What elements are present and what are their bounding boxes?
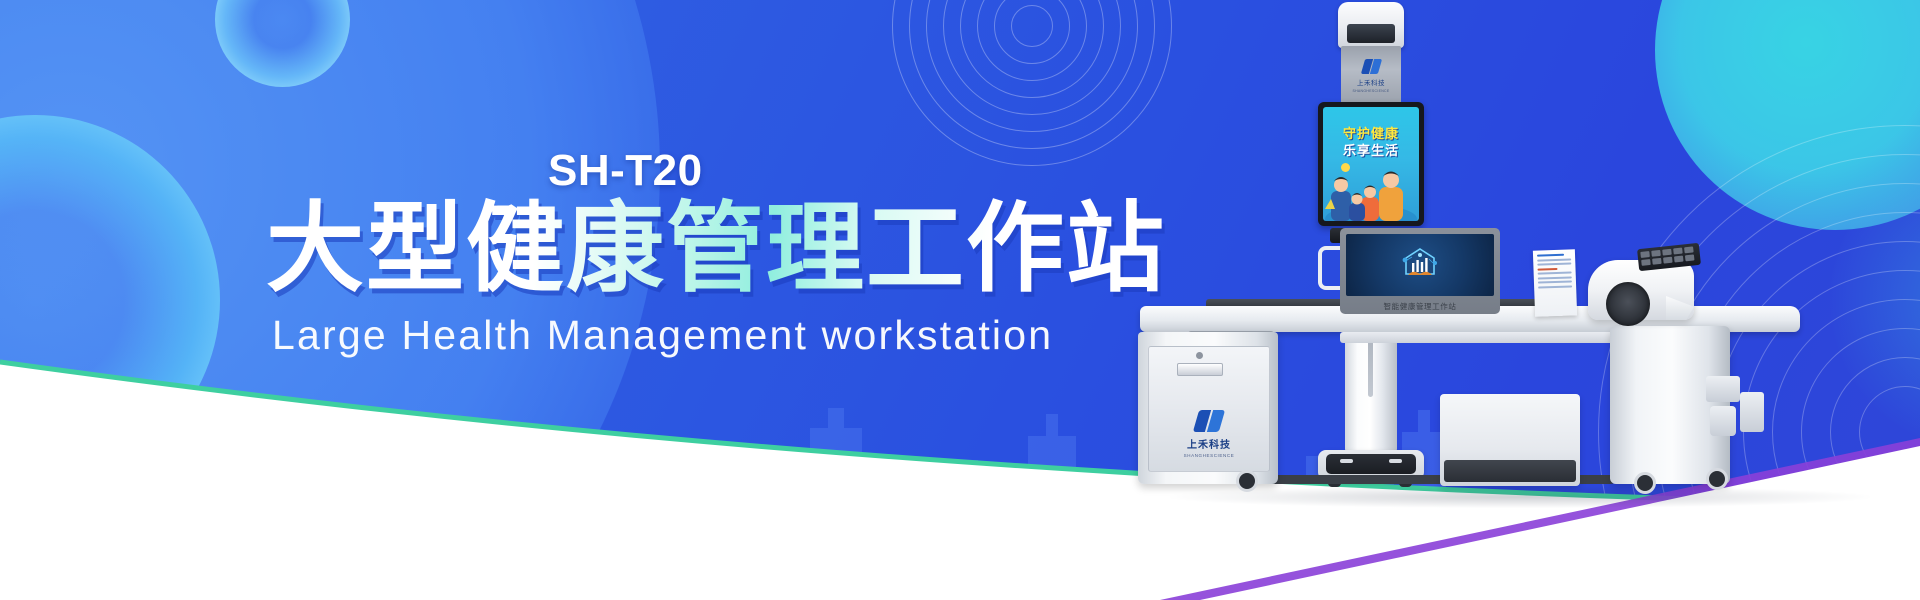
- health-app-icon: [1401, 247, 1439, 277]
- leaflet-line: [1537, 254, 1564, 257]
- desk-side-accessories: [1706, 376, 1768, 460]
- cup-holder: [1710, 406, 1736, 436]
- bp-key[interactable]: [1651, 250, 1661, 257]
- cabinet-handle-slot: [1177, 363, 1223, 376]
- leaflet-line: [1537, 258, 1571, 261]
- monitor-bezel: 智能健康管理工作站: [1340, 228, 1500, 314]
- kiosk-height-sensor-head: [1338, 2, 1404, 48]
- cabinet-brand-en: SHANGHESCIENCE: [1184, 453, 1235, 458]
- product-hero-banner: SH-T20 大型健康管理工作站 Large Health Management…: [0, 0, 1920, 600]
- page-subtitle: Large Health Management workstation: [272, 312, 1053, 359]
- probe-holder: [1740, 392, 1764, 432]
- caster-wheel: [1634, 472, 1656, 494]
- shanghe-logo-icon: [1363, 58, 1380, 75]
- kiosk-screen-content: 守护健康 乐享生活: [1323, 107, 1419, 221]
- leaflet-line: [1538, 276, 1572, 279]
- blood-pressure-monitor: [1578, 246, 1710, 324]
- shanghe-logo-icon: [1196, 409, 1222, 434]
- bp-key[interactable]: [1652, 258, 1662, 265]
- bp-key[interactable]: [1662, 249, 1672, 256]
- leaflet-line: [1537, 267, 1557, 270]
- monitor-screen[interactable]: [1346, 234, 1494, 296]
- workstation-desk: 上禾科技 SHANGHESCIENCE: [1140, 228, 1920, 486]
- accessory-holder: [1706, 376, 1740, 402]
- kiosk-screen-line2: 乐享生活: [1323, 140, 1419, 159]
- leaflet-line: [1538, 280, 1572, 283]
- info-leaflet: [1533, 249, 1577, 316]
- desk-cabinet-left: 上禾科技 SHANGHESCIENCE: [1138, 332, 1278, 484]
- cabinet-brand-cn: 上禾科技: [1187, 436, 1231, 451]
- caster-wheel: [1706, 468, 1728, 490]
- bp-key[interactable]: [1663, 257, 1673, 264]
- caster-wheel: [1236, 470, 1258, 492]
- cabinet-door[interactable]: 上禾科技 SHANGHESCIENCE: [1148, 346, 1270, 472]
- bp-arm-cuff: [1606, 282, 1650, 326]
- bp-key[interactable]: [1673, 248, 1683, 255]
- kiosk-display-screen[interactable]: 守护健康 乐享生活: [1318, 102, 1424, 226]
- bp-key[interactable]: [1640, 251, 1650, 258]
- lock-icon: [1196, 352, 1203, 359]
- leaflet-line: [1537, 262, 1571, 265]
- leaflet-line: [1538, 285, 1572, 288]
- cabinet-brand: 上禾科技 SHANGHESCIENCE: [1149, 409, 1269, 458]
- kiosk-brand-en: SHANGHESCIENCE: [1352, 89, 1389, 93]
- kiosk-brand-cn: 上禾科技: [1357, 77, 1385, 87]
- monitor-caption: 智能健康管理工作站: [1340, 301, 1500, 312]
- leaflet-line: [1538, 271, 1572, 274]
- desk-printer: [1440, 394, 1580, 486]
- bp-key[interactable]: [1674, 256, 1684, 263]
- kiosk-brand-panel: 上禾科技 SHANGHESCIENCE: [1341, 46, 1401, 104]
- bp-key[interactable]: [1685, 254, 1695, 261]
- family-illustration-icon: [1323, 163, 1419, 221]
- banner-copy: SH-T20 大型健康管理工作站 Large Health Management…: [0, 0, 1060, 600]
- desk-monitor: 智能健康管理工作站: [1340, 228, 1500, 314]
- product-photo: 上禾科技 SHANGHESCIENCE 守护健康 乐享生活: [1020, 0, 1920, 600]
- product-ground-shadow: [1170, 486, 1870, 508]
- product-model-label: SH-T20: [548, 146, 703, 196]
- bp-key[interactable]: [1684, 246, 1694, 253]
- bp-keypad[interactable]: [1640, 246, 1694, 265]
- bp-key[interactable]: [1641, 259, 1651, 266]
- bp-nose: [1666, 296, 1694, 320]
